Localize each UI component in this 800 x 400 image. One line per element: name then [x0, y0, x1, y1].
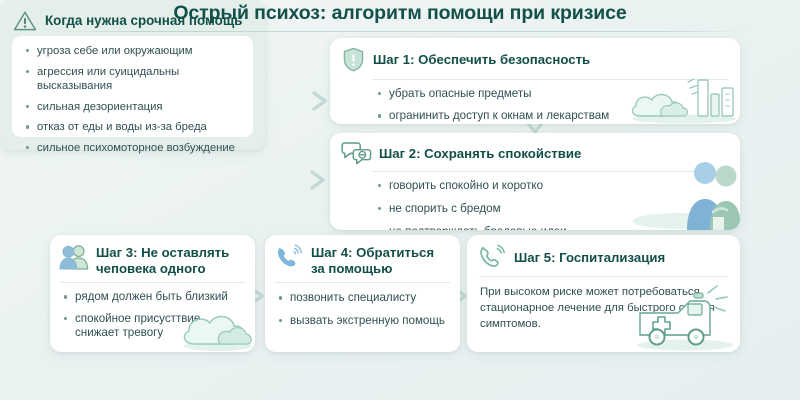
step5-heading: Шаг 5: Госпитализация	[514, 248, 665, 266]
two-persons-icon	[59, 243, 89, 271]
step1-panel: Шаг 1: Обеспечить безопасность убрать оп…	[330, 38, 740, 124]
step2-heading: Шаг 2: Сохранять спокойствие	[379, 144, 581, 162]
step1-header: Шаг 1: Обеспечить безопасность	[330, 38, 740, 73]
list-item: убрать опасные предметы	[376, 87, 740, 101]
title-divider	[55, 31, 745, 32]
step3-heading: Шаг 3: Не оставлять чеповека одного	[96, 243, 229, 277]
step3-panel: Шаг 3: Не оставлять чеповека одного рядо…	[50, 235, 255, 352]
step1-heading: Шаг 1: Обеспечить безопасность	[373, 50, 590, 68]
step1-list: убрать опасные предметы огранинить досту…	[330, 80, 740, 124]
page-title: Острый психоз: алгоритм помощи при кризи…	[0, 2, 800, 25]
shield-exclamation-icon	[341, 46, 366, 73]
list-item: говорить спокойно и коротко	[376, 179, 740, 193]
list-item: не спорить с бредом	[376, 202, 740, 216]
urgent-help-list: угроза себе или окружающим агрессия или …	[12, 36, 253, 150]
step4-heading: Шаг 4: Обратиться за помощью	[311, 243, 434, 277]
phone-call-icon	[274, 243, 304, 271]
step5-panel: Шаг 5: Госпитализация При высоком риске …	[467, 235, 740, 352]
step4-panel: Шаг 4: Обратиться за помощью позвонить с…	[265, 235, 460, 352]
step5-body: При высоком риске может потребоваться ст…	[467, 277, 740, 333]
list-item: вызвать экстренную помощь	[277, 314, 454, 328]
step4-header: Шаг 4: Обратиться за помощью	[265, 235, 460, 277]
list-item: позвонить специалисту	[277, 291, 454, 305]
list-item: отказ от еды и воды из-за бреда	[24, 120, 253, 134]
step3-list: рядом должен быть близкий спокойное прис…	[50, 283, 255, 340]
step2-list: говорить спокойно и коротко не спорить с…	[330, 172, 740, 230]
list-item: спокойное присусттвие снижает тревогу	[62, 312, 247, 341]
step4-list: позвонить специалисту вызвать экстренную…	[265, 283, 460, 328]
step2-panel: Шаг 2: Сохранять спокойствие говорить сп…	[330, 133, 740, 230]
list-item: угроза себе или окружающим	[24, 44, 253, 58]
list-item: огранинить доступ к окнам и лекарствам	[376, 109, 740, 123]
list-item: агрессия или суицидальны высказывания	[24, 65, 253, 93]
speech-bubbles-icon	[341, 140, 372, 166]
list-item: сильная дезориентация	[24, 100, 253, 114]
step2-header: Шаг 2: Сохранять спокойствие	[330, 133, 740, 166]
step3-header: Шаг 3: Не оставлять чеповека одного	[50, 235, 255, 277]
phone-call-green-icon	[477, 243, 507, 271]
urgent-help-list-box: угроза себе или окружающим агрессия или …	[12, 36, 253, 137]
list-item: не подтверждать бредовые идеи	[376, 225, 740, 230]
step5-header: Шаг 5: Госпитализация	[467, 235, 740, 271]
list-item: рядом должен быть близкий	[62, 290, 247, 304]
list-item: сильное психомоторное возбуждение	[24, 141, 253, 150]
